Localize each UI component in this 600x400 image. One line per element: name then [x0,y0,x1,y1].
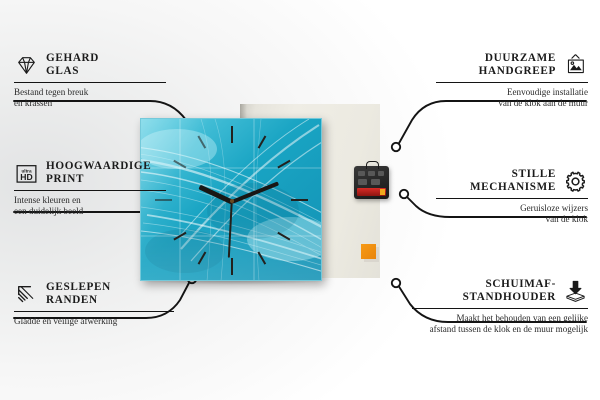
feature-title: STILLE MECHANISME [470,168,556,195]
mechanism-battery [357,188,386,196]
divider [14,311,174,313]
press-down-pad-icon [563,279,588,304]
feature-title: SCHUIMAF- STANDHOUDER [463,278,556,305]
feature-schuimaf-standhouder: SCHUIMAF- STANDHOUDER Maakt het behouden… [412,278,588,335]
ultra-hd-icon: ultra HD [14,161,39,186]
feature-geslepen-randen: GESLEPEN RANDEN Gladde en veilige afwerk… [14,281,174,327]
svg-text:HD: HD [20,172,32,182]
feature-description: Bestand tegen breuk en krassen [14,87,166,109]
divider [14,82,166,84]
feature-title: HOOGWAARDIGE PRINT [46,160,151,187]
feature-duurzame-handgreep: DUURZAME HANDGREEP Eenvoudige installati… [436,52,588,109]
wall-clock [140,118,322,281]
foam-spacer [361,244,376,259]
battery-positive-terminal [380,189,385,195]
feature-header: GEHARD GLAS [14,52,166,79]
divider [14,190,166,192]
product-photo [140,104,380,278]
node-schuimaf-standhouder [392,279,400,287]
divider [412,308,588,310]
hanging-picture-icon [563,53,588,78]
feature-header: STILLE MECHANISME [436,168,588,195]
diamond-icon [14,53,39,78]
gear-icon [563,169,588,194]
feature-title: DUURZAME HANDGREEP [479,52,556,79]
feature-header: ultra HD HOOGWAARDIGE PRINT [14,160,166,187]
feature-hoogwaardige-print: ultra HD HOOGWAARDIGE PRINT Intense kleu… [14,160,166,217]
clock-tick [231,258,233,275]
node-duurzame-handgreep [392,143,400,151]
feature-description: Geruisloze wijzers van de klok [436,203,588,225]
infographic-canvas: GEHARD GLAS Bestand tegen breuk en krass… [0,0,600,400]
feature-description: Intense kleuren en een duidelijk beeld [14,195,166,217]
clock-mechanism [354,166,389,199]
feature-title: GESLEPEN RANDEN [46,281,111,308]
feature-description: Gladde en veilige afwerking [14,316,174,327]
feature-header: SCHUIMAF- STANDHOUDER [412,278,588,305]
mechanism-hook [366,161,379,169]
divider [436,82,588,84]
feature-description: Eenvoudige installatie van de klok aan d… [436,87,588,109]
feature-description: Maakt het behouden van een gelijke afsta… [412,313,588,335]
node-stille-mechanisme [400,190,408,198]
feature-header: GESLEPEN RANDEN [14,281,174,308]
feature-title: GEHARD GLAS [46,52,99,79]
clock-tick [231,126,233,143]
feature-stille-mechanisme: STILLE MECHANISME Geruisloze wijzers van… [436,168,588,225]
feature-header: DUURZAME HANDGREEP [436,52,588,79]
feature-gehard-glas: GEHARD GLAS Bestand tegen breuk en krass… [14,52,166,109]
diagonal-lines-icon [14,282,39,307]
clock-tick [291,199,308,201]
clock-center-pin [230,199,234,203]
divider [436,198,588,200]
